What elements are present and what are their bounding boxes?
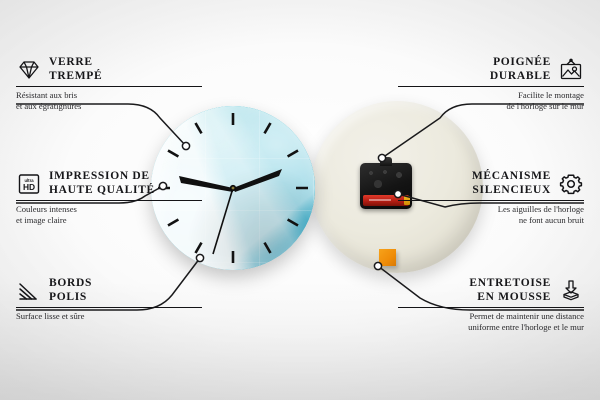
- diamond-icon: [16, 58, 42, 82]
- ultra-hd-badge-icon: ultra HD: [16, 172, 42, 196]
- feature-title: MÉCANISME SILENCIEUX: [472, 170, 551, 197]
- feature-description: Les aiguilles de l'horloge ne font aucun…: [398, 204, 584, 225]
- feature-header: MÉCANISME SILENCIEUX: [398, 170, 584, 197]
- feature-description: Résistant aux bris et aux égratignures: [16, 90, 202, 111]
- feature-bords-polis: BORDS POLIS Surface lisse et sûre: [16, 277, 202, 322]
- feature-header: ENTRETOISE EN MOUSSE: [398, 277, 584, 304]
- feature-header: BORDS POLIS: [16, 277, 202, 304]
- feature-poignee-durable: POIGNÉE DURABLE Facilite le montage de l…: [398, 56, 584, 112]
- mechanism-hanger: [380, 157, 392, 166]
- feature-divider: [398, 200, 584, 201]
- feature-divider: [398, 86, 584, 87]
- hanging-picture-icon: [558, 58, 584, 82]
- foam-spacer-arrow-icon: [558, 279, 584, 303]
- feature-header: ultra HD IMPRESSION DE HAUTE QUALITÉ: [16, 170, 202, 197]
- feature-divider: [16, 200, 202, 201]
- minute-hand: [233, 169, 282, 192]
- feature-divider: [398, 307, 584, 308]
- feature-divider: [16, 307, 202, 308]
- feature-title: POIGNÉE DURABLE: [490, 56, 551, 83]
- feature-title: BORDS POLIS: [49, 277, 92, 304]
- feature-description: Couleurs intenses et image claire: [16, 204, 202, 225]
- feature-title: ENTRETOISE EN MOUSSE: [469, 277, 551, 304]
- foam-spacer: [379, 249, 396, 266]
- feature-title: VERRE TREMPÉ: [49, 56, 102, 83]
- feature-description: Surface lisse et sûre: [16, 311, 202, 322]
- product-infographic: VERRE TREMPÉ Résistant aux bris et aux é…: [0, 0, 600, 400]
- second-hand: [213, 188, 233, 254]
- svg-text:HD: HD: [23, 182, 35, 192]
- feature-description: Facilite le montage de l'horloge sur le …: [398, 90, 584, 111]
- feature-mecanisme-silencieux: MÉCANISME SILENCIEUX Les aiguilles de l'…: [398, 170, 584, 226]
- gear-icon: [558, 172, 584, 196]
- feature-impression-haute-qualite: ultra HD IMPRESSION DE HAUTE QUALITÉ Cou…: [16, 170, 202, 226]
- feature-header: VERRE TREMPÉ: [16, 56, 202, 83]
- polished-edge-icon: [16, 279, 42, 303]
- feature-entretoise-en-mousse: ENTRETOISE EN MOUSSE Permet de maintenir…: [398, 277, 584, 333]
- battery-stripe: [369, 199, 391, 201]
- feature-header: POIGNÉE DURABLE: [398, 56, 584, 83]
- feature-divider: [16, 86, 202, 87]
- feature-description: Permet de maintenir une distance uniform…: [398, 311, 584, 332]
- feature-verre-trempe: VERRE TREMPÉ Résistant aux bris et aux é…: [16, 56, 202, 112]
- feature-title: IMPRESSION DE HAUTE QUALITÉ: [49, 170, 155, 197]
